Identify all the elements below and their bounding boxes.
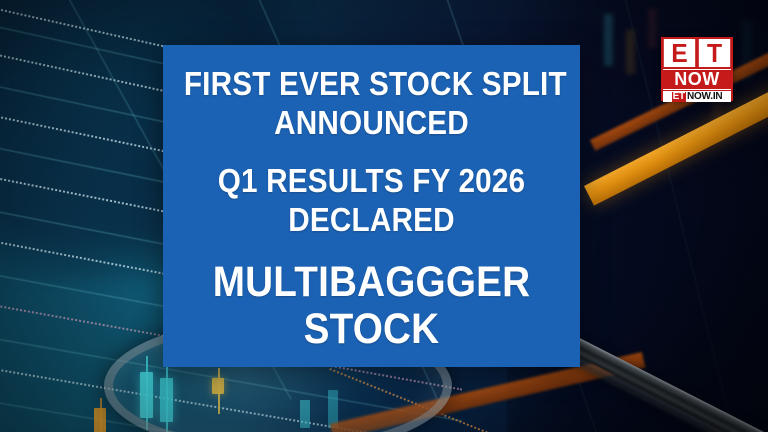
logo-website-url: ETNOW.IN [663,91,731,102]
logo-url-suffix: NOW.IN [686,92,722,102]
logo-url-prefix: ET [672,92,686,102]
headline-line-6: STOCK [184,304,559,352]
headline-line-4: DECLARED [184,198,559,237]
headline-line-5: MULTIBAGGGER [184,237,559,305]
headline-line-1: FIRST EVER STOCK SPLIT [184,45,559,101]
headline-line-2: ANNOUNCED [184,101,559,140]
et-now-logo: E T NOW ETNOW.IN [661,37,733,101]
logo-letter-e: E [664,39,695,67]
logo-et-row: E T [663,39,731,67]
headline-group-2: Q1 RESULTS FY 2026 DECLARED [163,139,580,236]
headline-line-3: Q1 RESULTS FY 2026 [184,139,559,198]
headline-group-1: FIRST EVER STOCK SPLIT ANNOUNCED [163,45,580,139]
screenshot-root: FIRST EVER STOCK SPLIT ANNOUNCED Q1 RESU… [0,0,768,432]
headline-group-3: MULTIBAGGGER STOCK [163,237,580,353]
logo-now-text: NOW [663,69,731,90]
headline-banner: FIRST EVER STOCK SPLIT ANNOUNCED Q1 RESU… [163,45,580,367]
logo-letter-t: T [699,39,730,67]
